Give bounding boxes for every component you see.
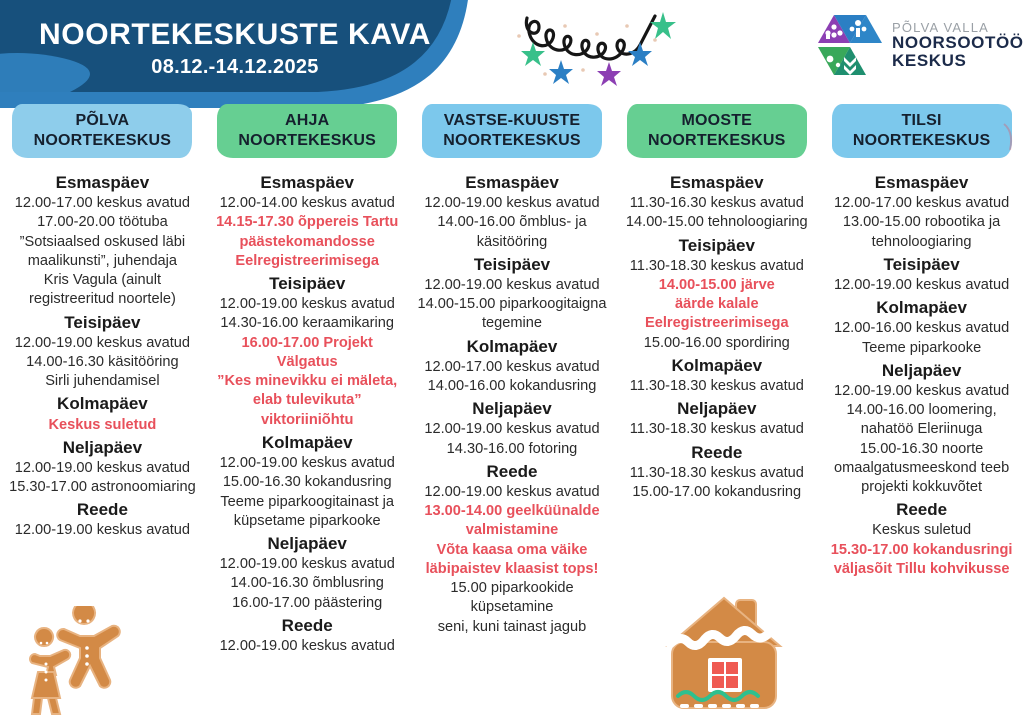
event-line: 12.00-19.00 keskus avatud <box>220 295 395 314</box>
highlight-event-line: äärde kalale <box>675 295 759 314</box>
day-heading: Esmaspäev <box>56 172 150 194</box>
event-line: 14.30-16.00 fotoring <box>447 440 578 459</box>
event-line: 14.00-16.00 loomering, <box>847 401 997 420</box>
day-entries: Esmaspäev12.00-17.00 keskus avatud13.00-… <box>825 170 1018 579</box>
schedule-column: PÕLVA NOORTEKESKUSEsmaspäev12.00-17.00 k… <box>0 104 205 656</box>
center-banner: VASTSE-KUUSTE NOORTEKESKUS <box>422 104 602 158</box>
day-heading: Reede <box>896 499 947 521</box>
center-banner: PÕLVA NOORTEKESKUS <box>12 104 192 158</box>
event-line: seni, kuni tainast jagub <box>438 618 586 637</box>
event-line: nahatöö Eleriinuga <box>861 420 983 439</box>
logo-line-1: PÕLVA VALLA <box>892 21 1024 35</box>
day-entries: Esmaspäev12.00-17.00 keskus avatud17.00-… <box>6 170 199 541</box>
event-line: 12.00-19.00 keskus avatud <box>220 454 395 473</box>
day-heading: Kolmapäev <box>262 432 353 454</box>
center-banner: AHJA NOORTEKESKUS <box>217 104 397 158</box>
center-name: AHJA NOORTEKESKUS <box>217 104 397 157</box>
event-line: 15.00-16.30 kokandusring <box>223 473 392 492</box>
event-line: 12.00-19.00 keskus avatud <box>15 521 190 540</box>
center-banner: TILSI NOORTEKESKUS <box>832 104 1012 158</box>
highlight-event-line: 14.00-15.00 järve <box>659 276 775 295</box>
event-line: tehnoloogiaring <box>872 233 972 252</box>
event-line: projekti kokkuvõtet <box>861 478 982 497</box>
event-line: 12.00-19.00 keskus avatud <box>15 459 190 478</box>
day-heading: Kolmapäev <box>876 297 967 319</box>
event-line: 11.30-18.30 keskus avatud <box>630 377 804 396</box>
highlight-event-line: Keskus suletud <box>48 416 156 435</box>
day-heading: Neljapäev <box>472 398 551 420</box>
center-banner: MOOSTE NOORTEKESKUS <box>627 104 807 158</box>
highlight-event-line: Eelregistreerimisega <box>645 314 789 333</box>
day-heading: Teisipäev <box>269 273 345 295</box>
day-heading: Teisipäev <box>883 254 959 276</box>
center-name: MOOSTE NOORTEKESKUS <box>627 104 807 157</box>
event-line: 14.30-16.00 keraamikaring <box>220 314 394 333</box>
day-heading: Esmaspäev <box>260 172 354 194</box>
day-heading: Kolmapäev <box>57 393 148 415</box>
highlight-event-line: 16.00-17.00 Projekt Välgatus <box>211 334 404 373</box>
event-line: 12.00-19.00 keskus avatud <box>424 276 599 295</box>
event-line: 12.00-19.00 keskus avatud <box>424 194 599 213</box>
organisation-logo: PÕLVA VALLA NOORSOOTÖÖ KESKUS <box>812 6 1012 84</box>
event-line: Teeme piparkooke <box>862 339 981 358</box>
event-line: 14.00-15.00 tehnoloogiaring <box>626 213 808 232</box>
event-line: registreeritud noortele) <box>29 290 176 309</box>
highlight-event-line: väljasõit Tillu kohvikusse <box>834 560 1010 579</box>
event-line: 15.30-17.00 astronoomiaring <box>9 478 196 497</box>
day-heading: Reede <box>486 461 537 483</box>
event-line: omaalgatusmeeskond teeb <box>834 459 1009 478</box>
schedule-column: TILSI NOORTEKESKUSEsmaspäev12.00-17.00 k… <box>819 104 1024 656</box>
event-line: Kris Vagula (ainult <box>44 271 161 290</box>
logo-line-3: KESKUS <box>892 52 1024 70</box>
day-heading: Reede <box>282 615 333 637</box>
gingerbread-house-icon <box>650 584 806 720</box>
event-line: 12.00-17.00 keskus avatud <box>424 358 599 377</box>
event-line: 12.00-16.00 keskus avatud <box>834 319 1009 338</box>
event-line: 14.00-16.00 õmblus- ja <box>437 213 586 232</box>
day-heading: Teisipäev <box>679 235 755 257</box>
day-entries: Esmaspäev11.30-16.30 keskus avatud14.00-… <box>620 170 813 502</box>
event-line: 12.00-19.00 keskus avatud <box>834 276 1009 295</box>
day-heading: Neljapäev <box>882 360 961 382</box>
logo-line-2: NOORSOOTÖÖ <box>892 34 1024 52</box>
highlight-event-line: päästekomandosse <box>239 233 374 252</box>
event-line: 12.00-19.00 keskus avatud <box>834 382 1009 401</box>
event-line: Keskus suletud <box>872 521 971 540</box>
highlight-event-line: 14.15-17.30 õppereis Tartu <box>216 213 398 232</box>
day-heading: Neljapäev <box>268 533 347 555</box>
event-line: Sirli juhendamisel <box>45 372 159 391</box>
event-line: 11.30-18.30 keskus avatud <box>630 420 804 439</box>
highlight-event-line: 13.00-14.00 geelküünalde <box>424 502 599 521</box>
event-line: ”Sotsiaalsed oskused läbi <box>20 233 186 252</box>
center-name: TILSI NOORTEKESKUS <box>832 104 1012 157</box>
event-line: küpsetame piparkooke <box>234 512 381 531</box>
day-heading: Reede <box>691 442 742 464</box>
highlight-event-line: ”Kes minevikku ei mäleta, <box>217 372 397 391</box>
highlight-event-line: Võta kaasa oma väike <box>437 541 588 560</box>
event-line: 12.00-19.00 keskus avatud <box>220 555 395 574</box>
highlight-event-line: läbipaistev klaasist tops! <box>426 560 599 579</box>
event-line: 14.00-16.00 kokandusring <box>428 377 597 396</box>
event-line: 12.00-17.00 keskus avatud <box>834 194 1009 213</box>
event-line: 15.00-16.00 spordiring <box>644 334 790 353</box>
event-line: 12.00-19.00 keskus avatud <box>424 420 599 439</box>
day-heading: Esmaspäev <box>670 172 764 194</box>
edge-decoration-icon <box>1000 120 1022 154</box>
event-line: tegemine <box>482 314 542 333</box>
logo-hexagon-icon <box>812 9 884 81</box>
event-line: 16.00-17.00 päästering <box>232 594 382 613</box>
schedule-columns: PÕLVA NOORTEKESKUSEsmaspäev12.00-17.00 k… <box>0 104 1024 656</box>
event-line: 11.30-18.30 keskus avatud <box>630 464 804 483</box>
header-banner: NOORTEKESKUSTE KAVA 08.12.-14.12.2025 <box>0 0 520 108</box>
event-line: käsitööring <box>477 233 548 252</box>
highlight-event-line: 15.30-17.00 kokandusringi <box>831 541 1013 560</box>
day-heading: Esmaspäev <box>875 172 969 194</box>
event-line: 12.00-17.00 keskus avatud <box>15 194 190 213</box>
day-entries: Esmaspäev12.00-19.00 keskus avatud14.00-… <box>416 170 609 637</box>
event-line: 12.00-19.00 keskus avatud <box>15 334 190 353</box>
day-heading: Neljapäev <box>677 398 756 420</box>
day-heading: Reede <box>77 499 128 521</box>
poster-root: NOORTEKESKUSTE KAVA 08.12.-14.12.2025 <box>0 0 1024 724</box>
event-line: 15.00-16.30 noorte <box>860 440 983 459</box>
event-line: 12.00-19.00 keskus avatud <box>220 637 395 656</box>
highlight-event-line: elab tulevikuta” <box>253 391 362 410</box>
schedule-column: MOOSTE NOORTEKESKUSEsmaspäev11.30-16.30 … <box>614 104 819 656</box>
event-line: 14.00-16.30 käsitööring <box>26 353 179 372</box>
event-line: 11.30-18.30 keskus avatud <box>630 257 804 276</box>
event-line: 13.00-15.00 robootika ja <box>843 213 1000 232</box>
star-garland-icon <box>505 0 715 90</box>
event-line: 11.30-16.30 keskus avatud <box>630 194 804 213</box>
event-line: 14.00-15.00 piparkoogitaigna <box>417 295 606 314</box>
event-line: maalikunsti”, juhendaja <box>28 252 177 271</box>
highlight-event-line: valmistamine <box>466 521 558 540</box>
event-line: 12.00-19.00 keskus avatud <box>424 483 599 502</box>
day-heading: Neljapäev <box>63 437 142 459</box>
schedule-column: VASTSE-KUUSTE NOORTEKESKUSEsmaspäev12.00… <box>410 104 615 656</box>
day-heading: Kolmapäev <box>467 336 558 358</box>
highlight-event-line: Eelregistreerimisega <box>235 252 379 271</box>
schedule-column: AHJA NOORTEKESKUSEsmaspäev12.00-14.00 ke… <box>205 104 410 656</box>
event-line: 12.00-14.00 keskus avatud <box>220 194 395 213</box>
center-name: PÕLVA NOORTEKESKUS <box>12 104 192 157</box>
day-heading: Teisipäev <box>64 312 140 334</box>
center-name: VASTSE-KUUSTE NOORTEKESKUS <box>422 104 602 157</box>
day-entries: Esmaspäev12.00-14.00 keskus avatud14.15-… <box>211 170 404 656</box>
event-line: Teeme piparkoogitainast ja <box>220 493 394 512</box>
event-line: 15.00-17.00 kokandusring <box>632 483 801 502</box>
day-heading: Kolmapäev <box>671 355 762 377</box>
gingerbread-people-icon <box>18 606 158 718</box>
event-line: 15.00 piparkookide küpsetamine <box>416 579 609 618</box>
event-line: 17.00-20.00 töötuba <box>37 213 168 232</box>
event-line: 14.00-16.30 õmblusring <box>231 574 384 593</box>
day-heading: Teisipäev <box>474 254 550 276</box>
day-heading: Esmaspäev <box>465 172 559 194</box>
highlight-event-line: viktoriiniõhtu <box>261 411 353 430</box>
